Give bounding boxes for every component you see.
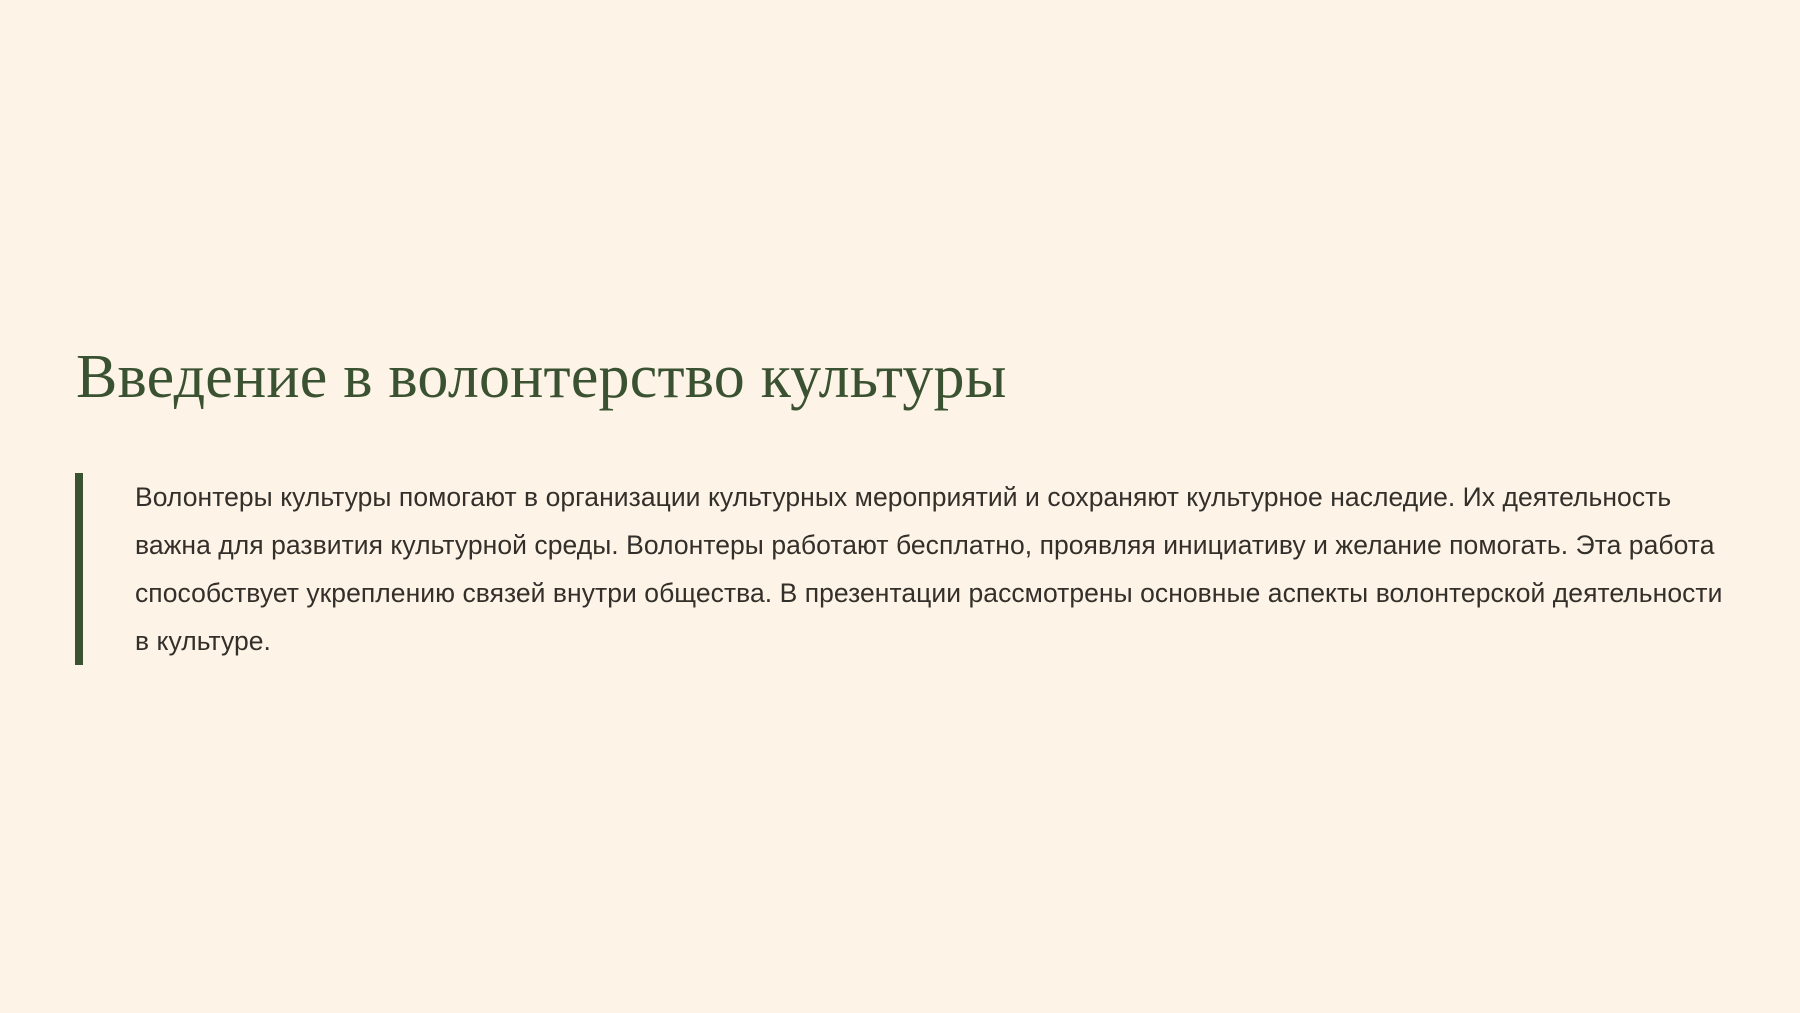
page-title: Введение в волонтерство культуры — [76, 344, 1716, 411]
body-paragraph: Волонтеры культуры помогают в организаци… — [83, 473, 1725, 665]
presentation-slide: Введение в волонтерство культуры Волонте… — [0, 0, 1800, 1013]
accent-bar — [75, 473, 83, 665]
body-callout: Волонтеры культуры помогают в организаци… — [75, 473, 1725, 665]
